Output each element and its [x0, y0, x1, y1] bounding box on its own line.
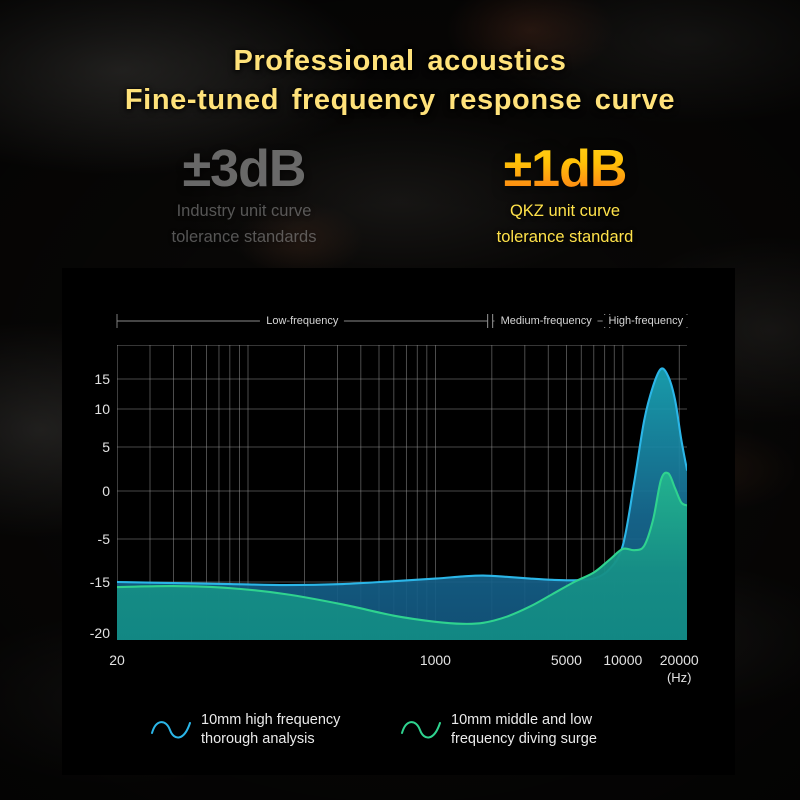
headline-line-2: Fine-tuned frequency response curve: [0, 81, 800, 120]
headline: Professional acoustics Fine-tuned freque…: [0, 42, 800, 120]
x-axis-tick-label: 20000: [660, 652, 699, 668]
x-axis-tick-label: 10000: [603, 652, 642, 668]
frequency-band-ruler: Low-frequencyMedium-frequencyHigh-freque…: [62, 310, 735, 332]
industry-tolerance-value: ±3dB: [104, 140, 384, 198]
x-axis-unit-label: (Hz): [667, 670, 692, 685]
qkz-tolerance-caption-1: QKZ unit curve: [420, 198, 710, 224]
industry-tolerance-block: ±3dB Industry unit curve tolerance stand…: [104, 140, 384, 250]
band-label-medium: Medium-frequency: [495, 315, 598, 327]
legend-label: 10mm high frequencythorough analysis: [201, 711, 340, 749]
plot-area: [117, 345, 687, 640]
qkz-tolerance-block: ±1dB QKZ unit curve tolerance standard: [420, 140, 710, 250]
qkz-tolerance-caption-2: tolerance standard: [420, 224, 710, 250]
y-axis-tick-label: 10: [68, 402, 110, 416]
x-axis-tick-label: 5000: [551, 652, 582, 668]
y-axis-tick-label: -15: [68, 575, 110, 589]
legend-label-line-1: 10mm middle and low: [451, 711, 597, 730]
band-label-high: High-frequency: [603, 315, 690, 327]
headline-line-1: Professional acoustics: [0, 42, 800, 81]
legend-label-line-1: 10mm high frequency: [201, 711, 340, 730]
x-axis-tick-label: 1000: [420, 652, 451, 668]
legend-item: 10mm high frequencythorough analysis: [150, 711, 340, 749]
x-axis-tick-label: 20: [109, 652, 125, 668]
chart-legend: 10mm high frequencythorough analysis10mm…: [62, 705, 735, 757]
sine-wave-icon: [150, 717, 192, 743]
y-axis-tick-label: 0: [68, 484, 110, 498]
legend-label: 10mm middle and lowfrequency diving surg…: [451, 711, 597, 749]
y-axis-tick-label: 5: [68, 440, 110, 454]
legend-label-line-2: thorough analysis: [201, 730, 340, 749]
industry-tolerance-caption-1: Industry unit curve: [104, 198, 384, 224]
y-axis-tick-label: -5: [68, 532, 110, 546]
legend-label-line-2: frequency diving surge: [451, 730, 597, 749]
tolerance-comparison: ±3dB Industry unit curve tolerance stand…: [0, 140, 800, 270]
industry-tolerance-caption-2: tolerance standards: [104, 224, 384, 250]
band-label-low: Low-frequency: [260, 315, 344, 327]
y-axis-tick-label: 15: [68, 372, 110, 386]
legend-item: 10mm middle and lowfrequency diving surg…: [400, 711, 597, 749]
qkz-tolerance-value: ±1dB: [420, 140, 710, 198]
frequency-response-chart-panel: Low-frequencyMedium-frequencyHigh-freque…: [62, 268, 735, 775]
sine-wave-icon: [400, 717, 442, 743]
y-axis-tick-label: -20: [68, 626, 110, 640]
response-curve-graphic: [117, 345, 687, 640]
